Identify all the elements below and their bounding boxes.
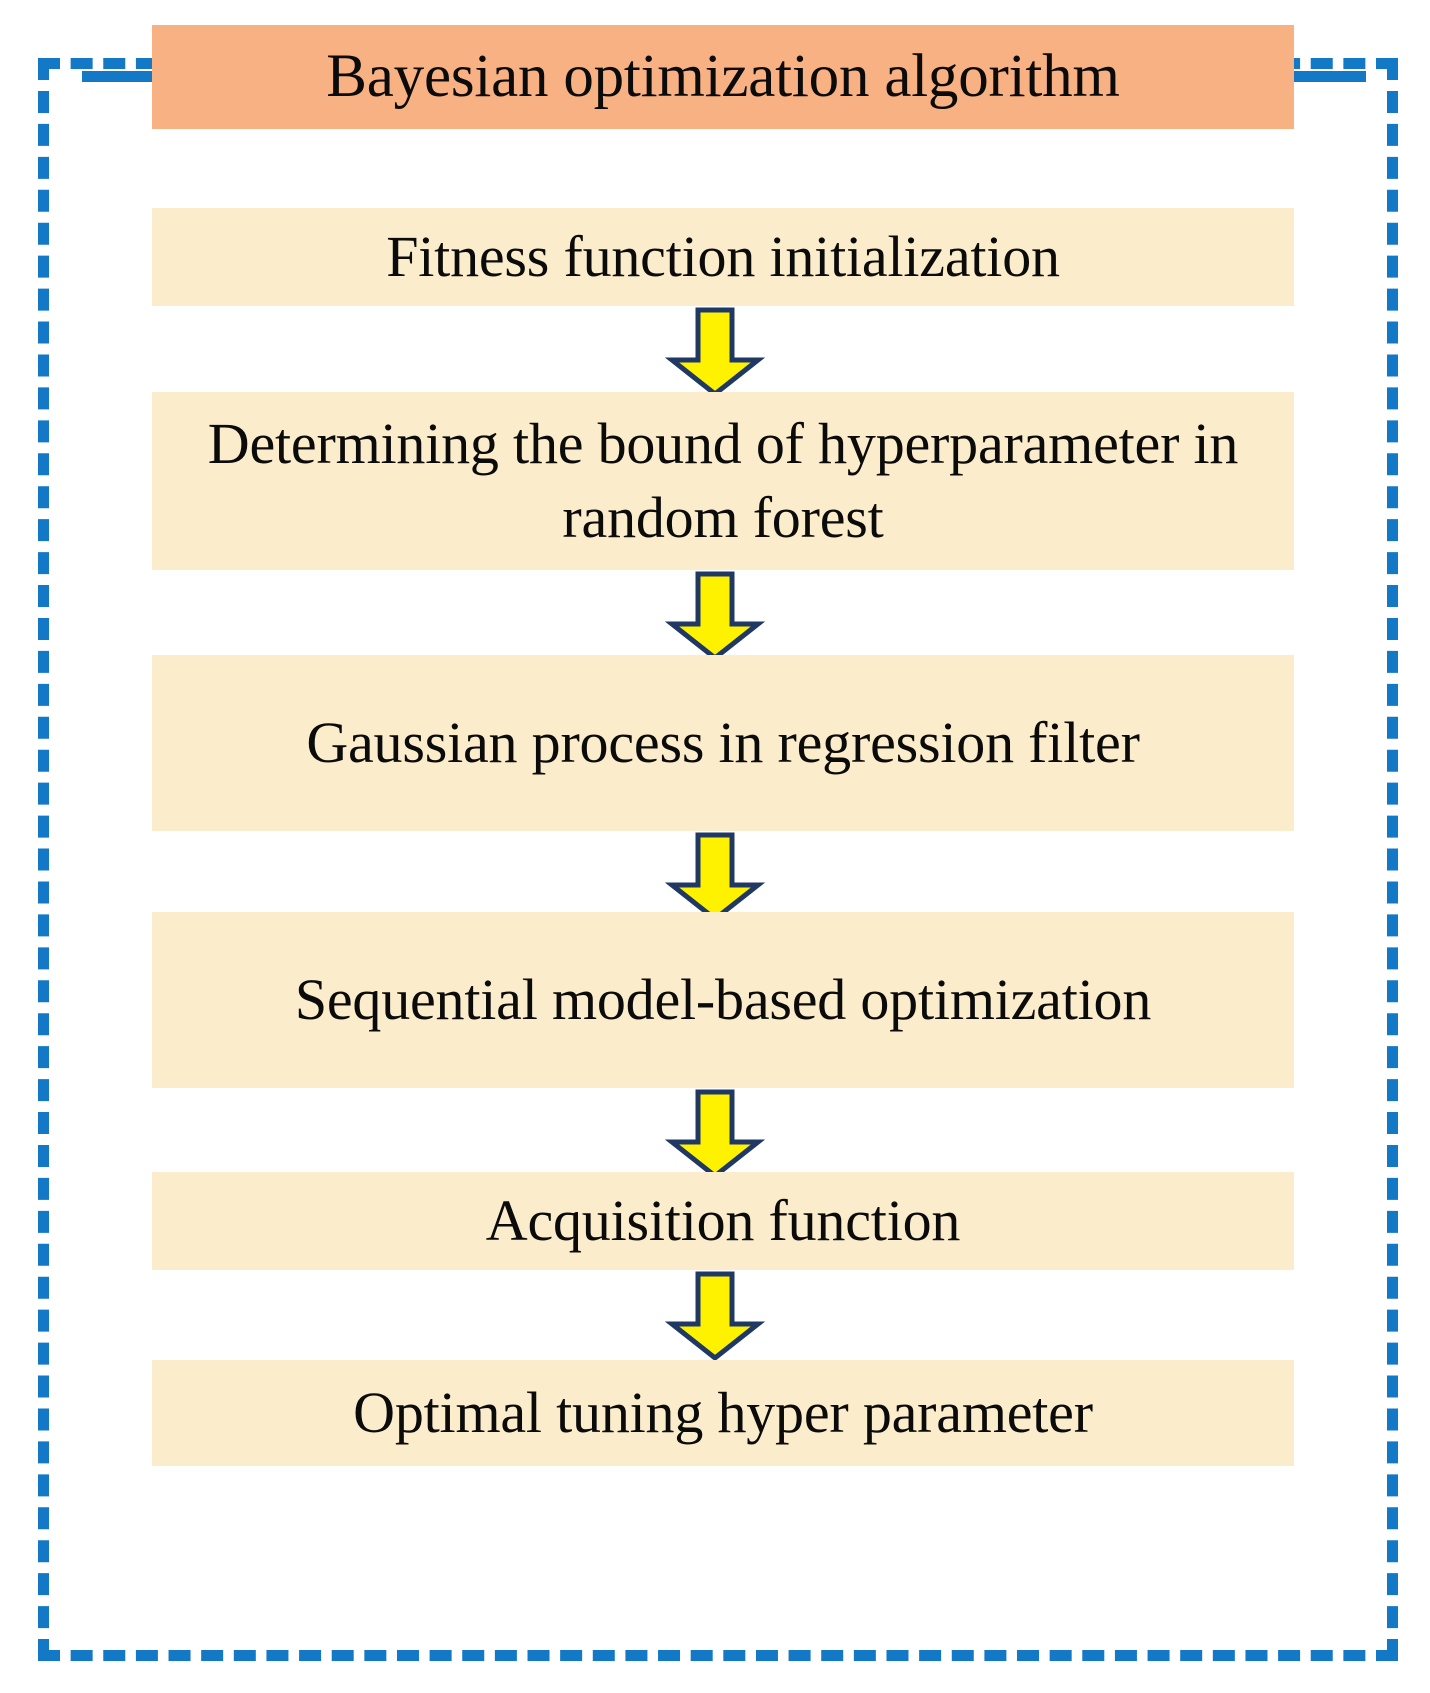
- step-label-fitness-function-initialization: Fitness function initialization: [386, 223, 1060, 291]
- step-label-gaussian-process-regression-filter: Gaussian process in regression filter: [306, 706, 1139, 780]
- step-box-optimal-tuning-hyper-parameter[interactable]: Optimal tuning hyper parameter: [152, 1360, 1294, 1466]
- step-label-determining-bound-hyperparameter: Determining the bound of hyperparameter …: [162, 407, 1284, 555]
- title-connector-right: [1288, 71, 1366, 82]
- step-label-sequential-model-based-optimization: Sequential model-based optimization: [295, 963, 1151, 1037]
- step-box-sequential-model-based-optimization[interactable]: Sequential model-based optimization: [152, 912, 1294, 1088]
- step-box-gaussian-process-regression-filter[interactable]: Gaussian process in regression filter: [152, 655, 1294, 831]
- diagram-title-box: Bayesian optimization algorithm: [152, 25, 1294, 129]
- step-box-fitness-function-initialization[interactable]: Fitness function initialization: [152, 208, 1294, 306]
- step-box-acquisition-function[interactable]: Acquisition function: [152, 1172, 1294, 1270]
- diagram-title-label: Bayesian optimization algorithm: [326, 41, 1119, 113]
- title-connector-left: [82, 71, 160, 82]
- step-label-acquisition-function: Acquisition function: [486, 1187, 960, 1255]
- step-box-determining-bound-hyperparameter[interactable]: Determining the bound of hyperparameter …: [152, 392, 1294, 570]
- step-label-optimal-tuning-hyper-parameter: Optimal tuning hyper parameter: [353, 1379, 1093, 1447]
